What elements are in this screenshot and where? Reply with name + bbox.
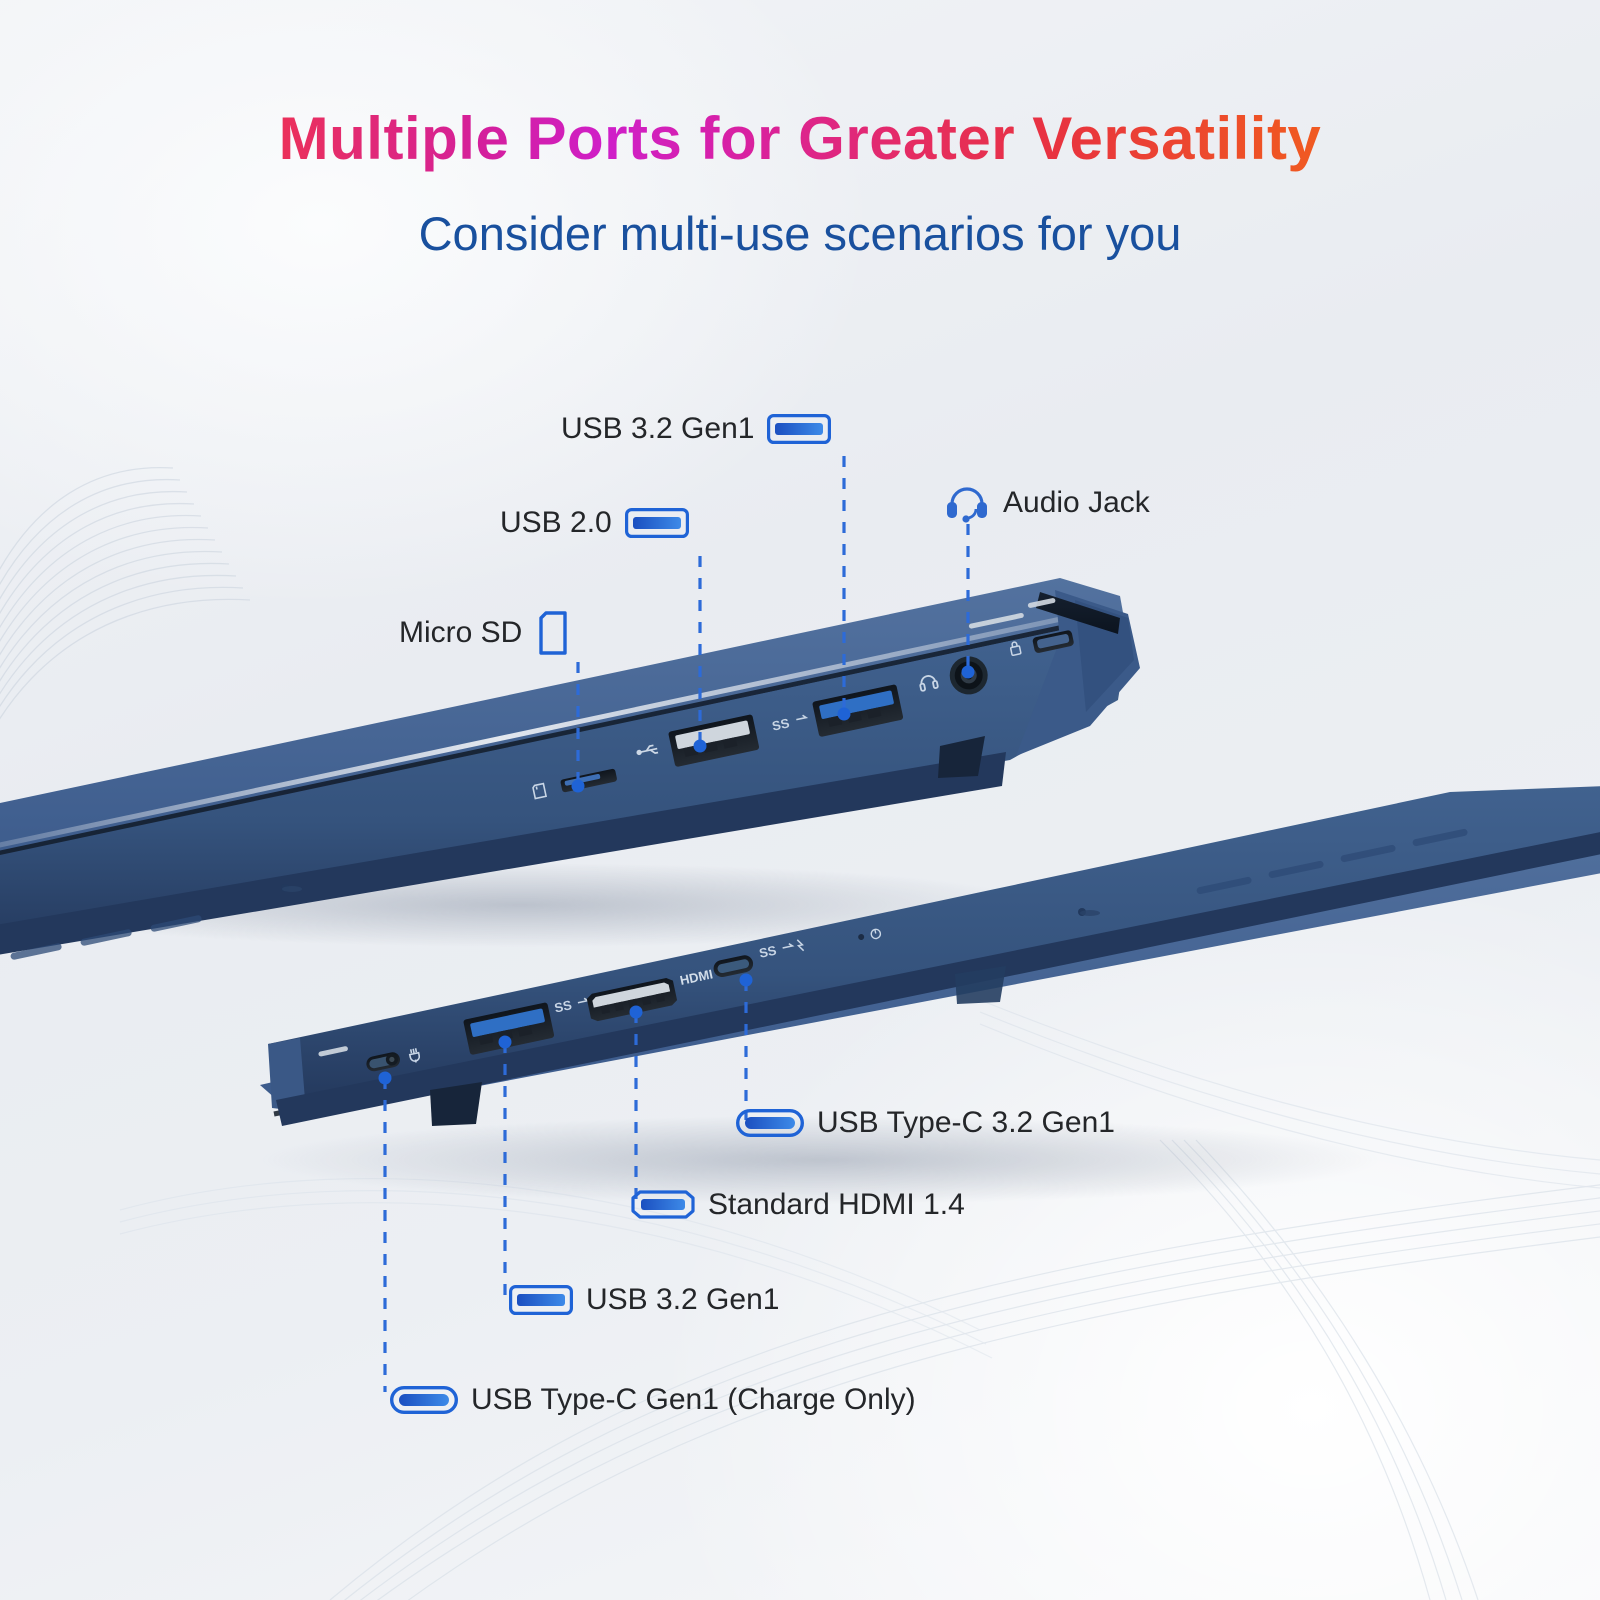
usb-a-port-icon [625,508,689,538]
hdmi-port-icon [631,1190,695,1220]
usb-c-port-icon [736,1109,804,1137]
infographic-canvas: SS [0,0,1600,1600]
usb-a-port-icon [767,414,831,444]
callout-usb20: USB 2.0 [500,508,689,538]
callout-usbc32gen1: USB Type-C 3.2 Gen1 [736,1108,1115,1138]
callout-label: USB Type-C Gen1 (Charge Only) [471,1385,916,1415]
microsd-card-icon [535,610,571,656]
callout-usbc-charge: USB Type-C Gen1 (Charge Only) [390,1385,916,1415]
callout-microsd: Micro SD [399,610,571,656]
callout-label: Micro SD [399,618,522,648]
callout-label: Standard HDMI 1.4 [708,1190,965,1220]
callout-audiojack: Audio Jack [944,482,1150,524]
headset-icon [944,482,990,524]
callout-label: USB 3.2 Gen1 [586,1285,779,1315]
callout-label: USB Type-C 3.2 Gen1 [817,1108,1115,1138]
callout-usb32gen1-bot: USB 3.2 Gen1 [509,1285,779,1315]
usb-c-port-icon [390,1386,458,1414]
leader-endpoint-dots [379,666,975,1085]
callout-hdmi: Standard HDMI 1.4 [631,1190,965,1220]
page-title: Multiple Ports for Greater Versatility [0,104,1600,173]
callout-label: USB 3.2 Gen1 [561,414,754,444]
callout-label: USB 2.0 [500,508,612,538]
callout-label: Audio Jack [1003,488,1150,518]
usb-a-port-icon [509,1285,573,1315]
callout-usb32gen1-top: USB 3.2 Gen1 [561,414,831,444]
page-subtitle: Consider multi-use scenarios for you [0,206,1600,261]
